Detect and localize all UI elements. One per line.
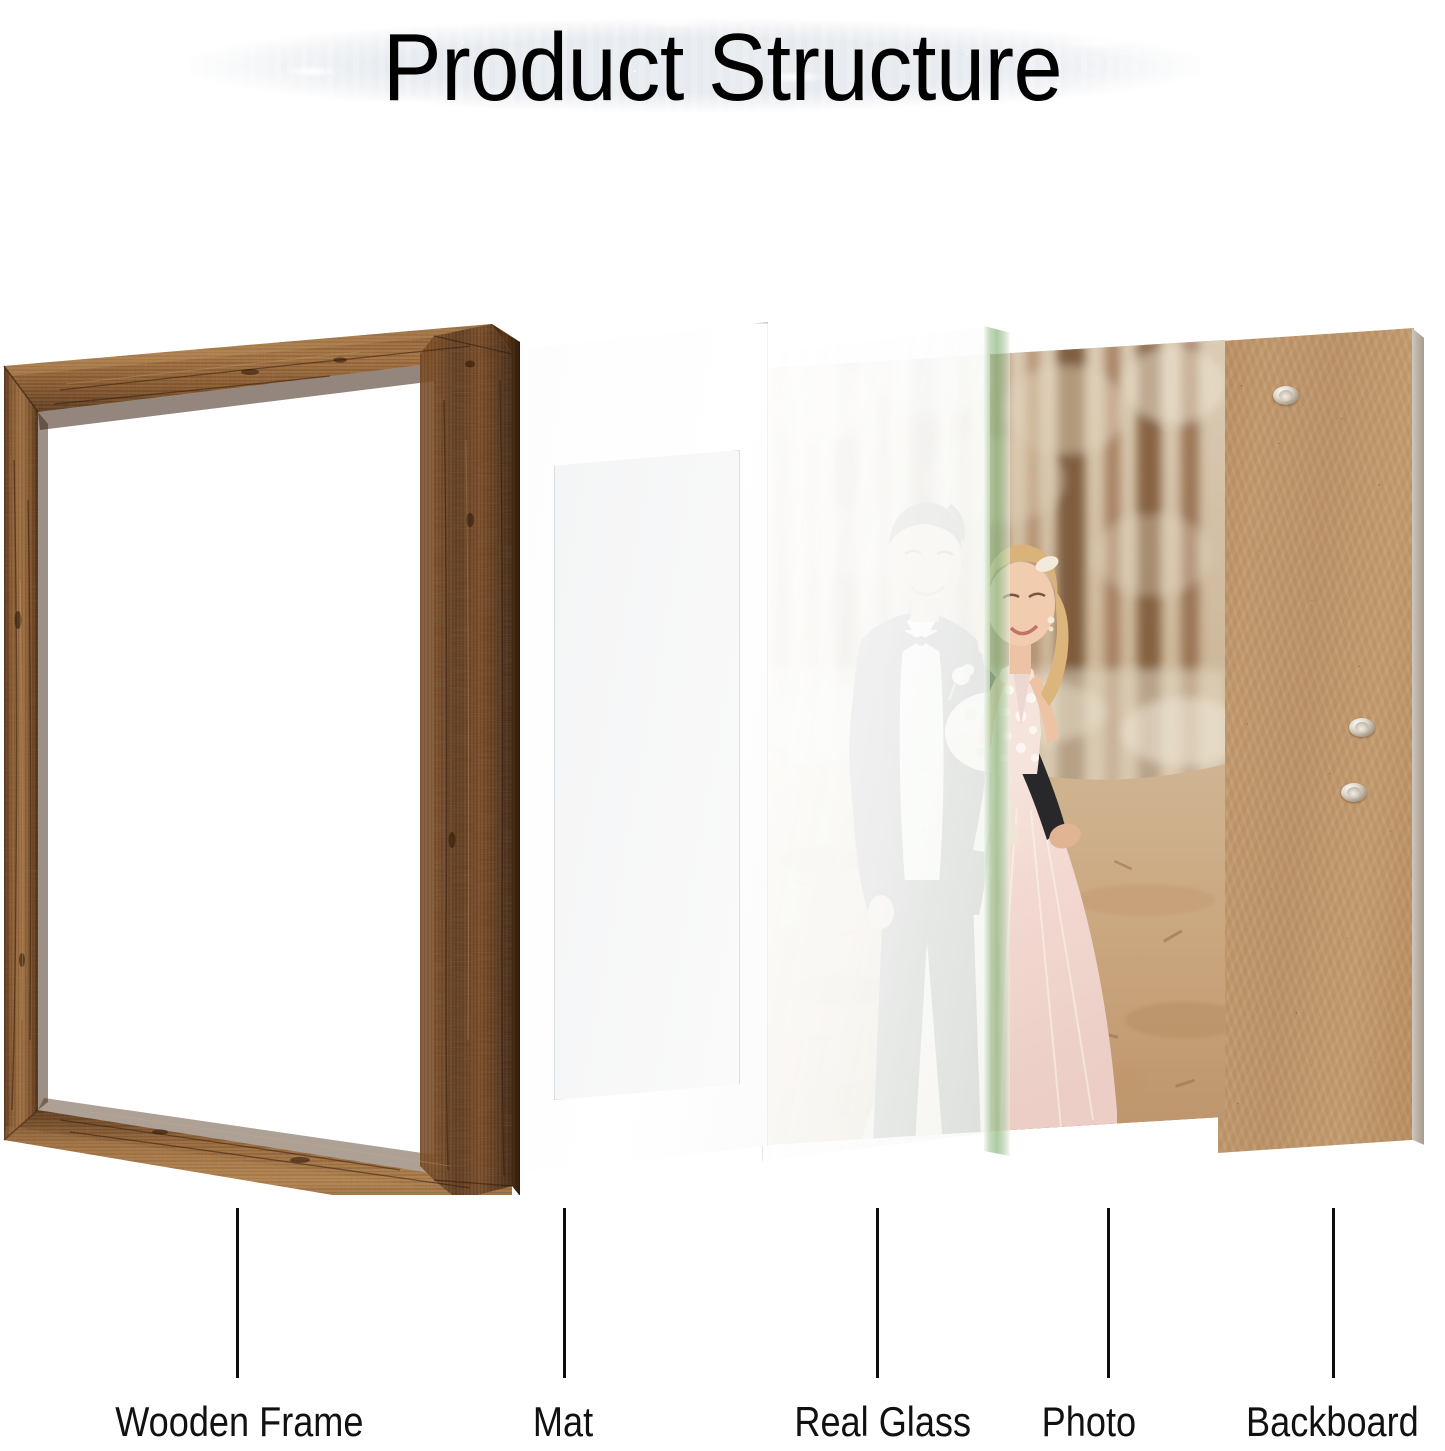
layer-mat (528, 322, 768, 1172)
leader-line-mat (563, 1208, 566, 1378)
layer-wooden-frame (0, 320, 560, 1195)
title-banner: Product Structure (0, 0, 1445, 150)
label-wooden-frame: Wooden Frame (115, 1398, 363, 1446)
label-backboard: Backboard (1246, 1398, 1419, 1446)
label-photo: Photo (1042, 1398, 1136, 1446)
glass-green-edge (984, 326, 1010, 1161)
backboard-edge (1412, 328, 1424, 1153)
label-real-glass: Real Glass (794, 1398, 971, 1446)
page-title: Product Structure (58, 0, 1387, 135)
grommet-hole (1355, 722, 1369, 733)
label-mat: Mat (533, 1398, 593, 1446)
leader-line-real-glass (876, 1208, 879, 1378)
grommet-icon (1341, 783, 1367, 802)
leader-line-photo (1107, 1208, 1110, 1378)
mat-window-cutout (554, 450, 740, 1100)
grommet-hole (1347, 787, 1361, 798)
exploded-view-stage (0, 150, 1445, 1210)
wooden-frame-illustration (0, 320, 560, 1195)
layer-backboard (1218, 328, 1424, 1153)
glass-face (762, 326, 990, 1161)
backboard-face (1218, 328, 1414, 1153)
layer-labels: Wooden Frame Mat Real Glass Photo Backbo… (0, 1398, 1445, 1451)
leader-line-wooden-frame (236, 1208, 239, 1378)
leader-line-backboard (1332, 1208, 1335, 1378)
layer-real-glass (762, 326, 1010, 1161)
grommet-hole (1279, 390, 1293, 401)
grommet-icon (1349, 718, 1375, 737)
grommet-icon (1273, 386, 1299, 405)
